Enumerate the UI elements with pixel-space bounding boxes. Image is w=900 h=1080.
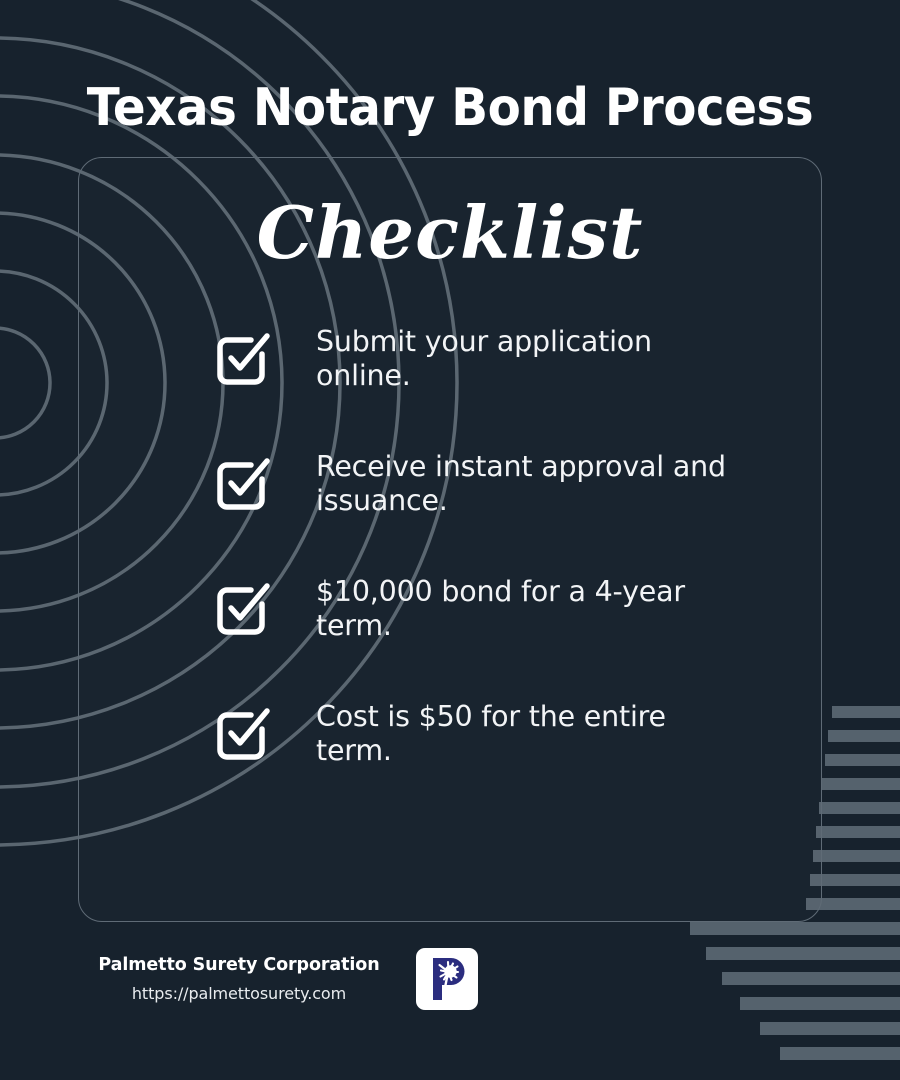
checkbox-checked-icon xyxy=(215,580,273,638)
checklist-card: Checklist Submit your application online… xyxy=(78,157,822,922)
checklist-item-label: $10,000 bond for a 4-year term. xyxy=(316,573,736,642)
checklist-item[interactable]: Submit your application online. xyxy=(215,323,791,448)
checklist-item-label: Cost is $50 for the entire term. xyxy=(316,698,736,767)
checklist-heading: Checklist xyxy=(79,190,821,275)
checklist-items: Submit your application online. Receive … xyxy=(215,323,791,823)
checklist-item[interactable]: Cost is $50 for the entire term. xyxy=(215,698,791,823)
checkbox-checked-icon xyxy=(215,330,273,388)
checklist-item[interactable]: Receive instant approval and issuance. xyxy=(215,448,791,573)
checklist-item-label: Receive instant approval and issuance. xyxy=(316,448,736,517)
company-name: Palmetto Surety Corporation xyxy=(78,955,400,975)
checklist-item-label: Submit your application online. xyxy=(316,323,736,392)
page-title: Texas Notary Bond Process xyxy=(32,78,869,138)
website-url[interactable]: https://palmettosurety.com xyxy=(78,984,400,1003)
checkbox-checked-icon xyxy=(215,455,273,513)
footer: Palmetto Surety Corporation https://palm… xyxy=(78,948,498,1010)
checkbox-checked-icon xyxy=(215,705,273,763)
footer-text-block: Palmetto Surety Corporation https://palm… xyxy=(78,955,400,1003)
checklist-item[interactable]: $10,000 bond for a 4-year term. xyxy=(215,573,791,698)
palmetto-p-logo-icon xyxy=(416,948,478,1010)
